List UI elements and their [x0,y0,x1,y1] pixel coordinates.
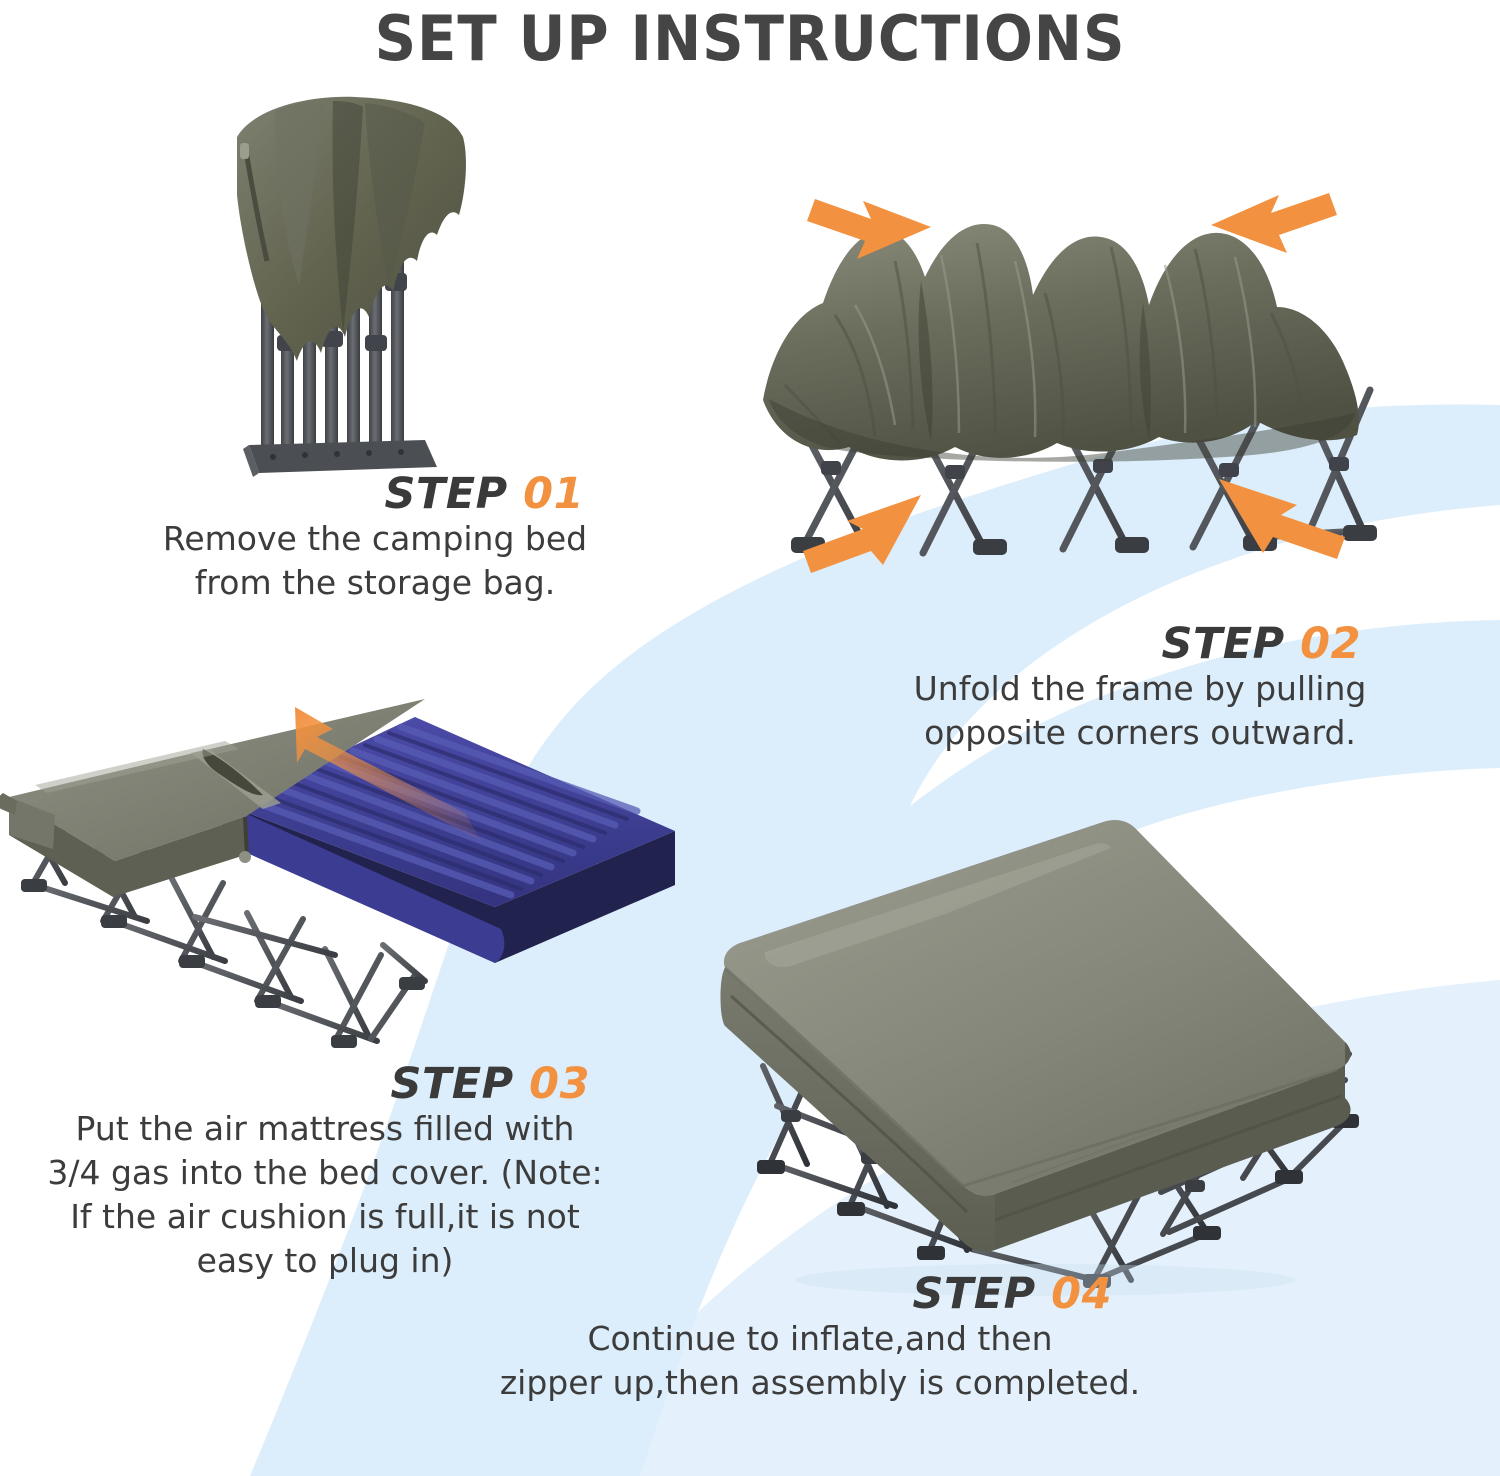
folded-bed-illustration [215,85,485,495]
step-02-number: 02 [1300,619,1361,669]
step-01-caption: STEP 01 Remove the camping bed from the … [150,472,600,605]
step-02-body: Unfold the frame by pulling opposite cor… [905,667,1375,755]
step-04-label: STEP [912,1269,1035,1319]
step-03-body: Put the air mattress filled with 3/4 gas… [40,1107,610,1283]
infographic-page: SET UP INSTRUCTIONS [0,0,1500,1476]
step-01-heading: STEP 01 [150,472,600,517]
page-title: SET UP INSTRUCTIONS [53,2,1448,75]
crumpled-fabric [763,224,1359,462]
step-04-caption: STEP 04 Continue to inflate,and then zip… [470,1272,1170,1405]
step-01-number: 01 [523,469,584,519]
unfolding-frame-illustration [745,185,1385,585]
step-04-heading: STEP 04 [470,1272,1170,1317]
mattress-into-cover-illustration [0,645,715,1075]
step-03-label: STEP [390,1059,513,1109]
step-04-number: 04 [1051,1269,1112,1319]
step-03-heading: STEP 03 [40,1062,610,1107]
step-02-caption: STEP 02 Unfold the frame by pulling oppo… [905,622,1375,755]
step-04-body: Continue to inflate,and then zipper up,t… [470,1317,1170,1405]
step-01-body: Remove the camping bed from the storage … [150,517,600,605]
step-03-number: 03 [529,1059,590,1109]
step-03-caption: STEP 03 Put the air mattress filled with… [40,1062,610,1283]
step-02-heading: STEP 02 [905,622,1375,667]
completed-bed-illustration [695,780,1375,1300]
arrow-top-left-icon [807,199,931,259]
step-02-label: STEP [1161,619,1284,669]
step-01-label: STEP [384,469,507,519]
inflated-mattress [721,820,1351,1252]
